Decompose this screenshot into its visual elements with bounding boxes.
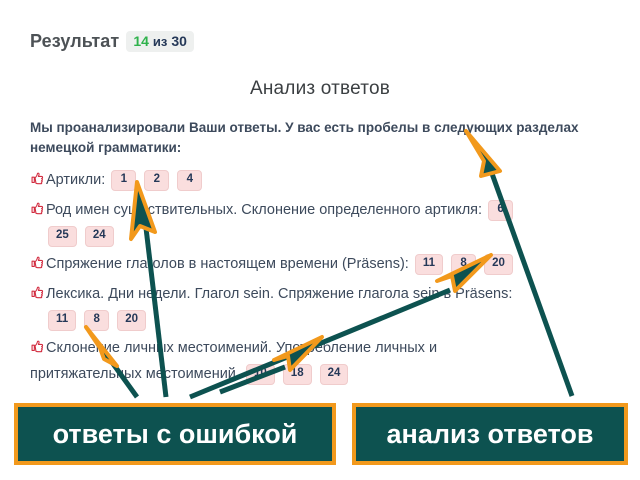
question-badge[interactable]: 11	[48, 310, 76, 331]
pointing-hand-icon	[30, 200, 45, 224]
list-item-text: Род имен существительных. Склонение опре…	[46, 202, 482, 218]
question-badge[interactable]: 4	[177, 170, 202, 191]
list-item: Артикли: 1 2 4	[30, 168, 620, 194]
question-badge[interactable]: 20	[117, 310, 146, 331]
pointing-hand-icon	[30, 170, 45, 194]
list-item: Лексика. Дни недели. Глагол sein. Спряже…	[30, 282, 620, 332]
topic-list: Артикли: 1 2 4 Род имен существительных.…	[30, 168, 620, 390]
list-item-text: Спряжение глаголов в настоящем времени (…	[46, 256, 409, 272]
score-correct: 14	[133, 34, 149, 48]
question-badge[interactable]: 24	[85, 226, 114, 247]
question-badge[interactable]: 25	[48, 226, 77, 247]
question-badge[interactable]: 8	[84, 310, 109, 331]
list-item: Склонение личных местоимений. Употреблен…	[30, 336, 530, 386]
question-badge[interactable]: 2	[144, 170, 169, 191]
score-badge: 14 из 30	[126, 31, 194, 52]
result-label: Результат	[30, 31, 119, 52]
question-badge[interactable]: 18	[283, 364, 312, 385]
list-item: Род имен существительных. Склонение опре…	[30, 198, 620, 248]
question-badge[interactable]: 8	[451, 254, 476, 275]
question-badge[interactable]: 1	[111, 170, 136, 191]
list-item-text: Артикли:	[46, 172, 105, 188]
score-total: 30	[171, 34, 187, 48]
question-badge[interactable]: 11	[415, 254, 443, 275]
list-item-text: Лексика. Дни недели. Глагол sein. Спряже…	[46, 286, 512, 302]
pointing-hand-icon	[30, 254, 45, 278]
pointing-hand-icon	[30, 338, 45, 362]
callout-errors-label: ответы с ошибкой	[53, 419, 298, 450]
question-badge[interactable]: 20	[484, 254, 513, 275]
page-title: Анализ ответов	[0, 78, 640, 100]
score-of-label: из	[153, 35, 167, 48]
question-badge[interactable]: 24	[320, 364, 349, 385]
slide-root: Результат 14 из 30 Анализ ответов Мы про…	[0, 0, 640, 480]
list-item-text: Склонение личных местоимений. Употреблен…	[30, 340, 437, 382]
callout-errors[interactable]: ответы с ошибкой	[14, 403, 336, 465]
callout-analysis-label: анализ ответов	[387, 419, 594, 450]
list-item: Спряжение глаголов в настоящем времени (…	[30, 252, 620, 278]
intro-paragraph: Мы проанализировали Ваши ответы. У вас е…	[30, 118, 610, 158]
question-badge[interactable]: 10	[246, 364, 275, 385]
callout-analysis[interactable]: анализ ответов	[352, 403, 628, 465]
result-header: Результат 14 из 30	[30, 31, 194, 52]
pointing-hand-icon	[30, 284, 45, 308]
question-badge[interactable]: 6	[488, 200, 513, 221]
